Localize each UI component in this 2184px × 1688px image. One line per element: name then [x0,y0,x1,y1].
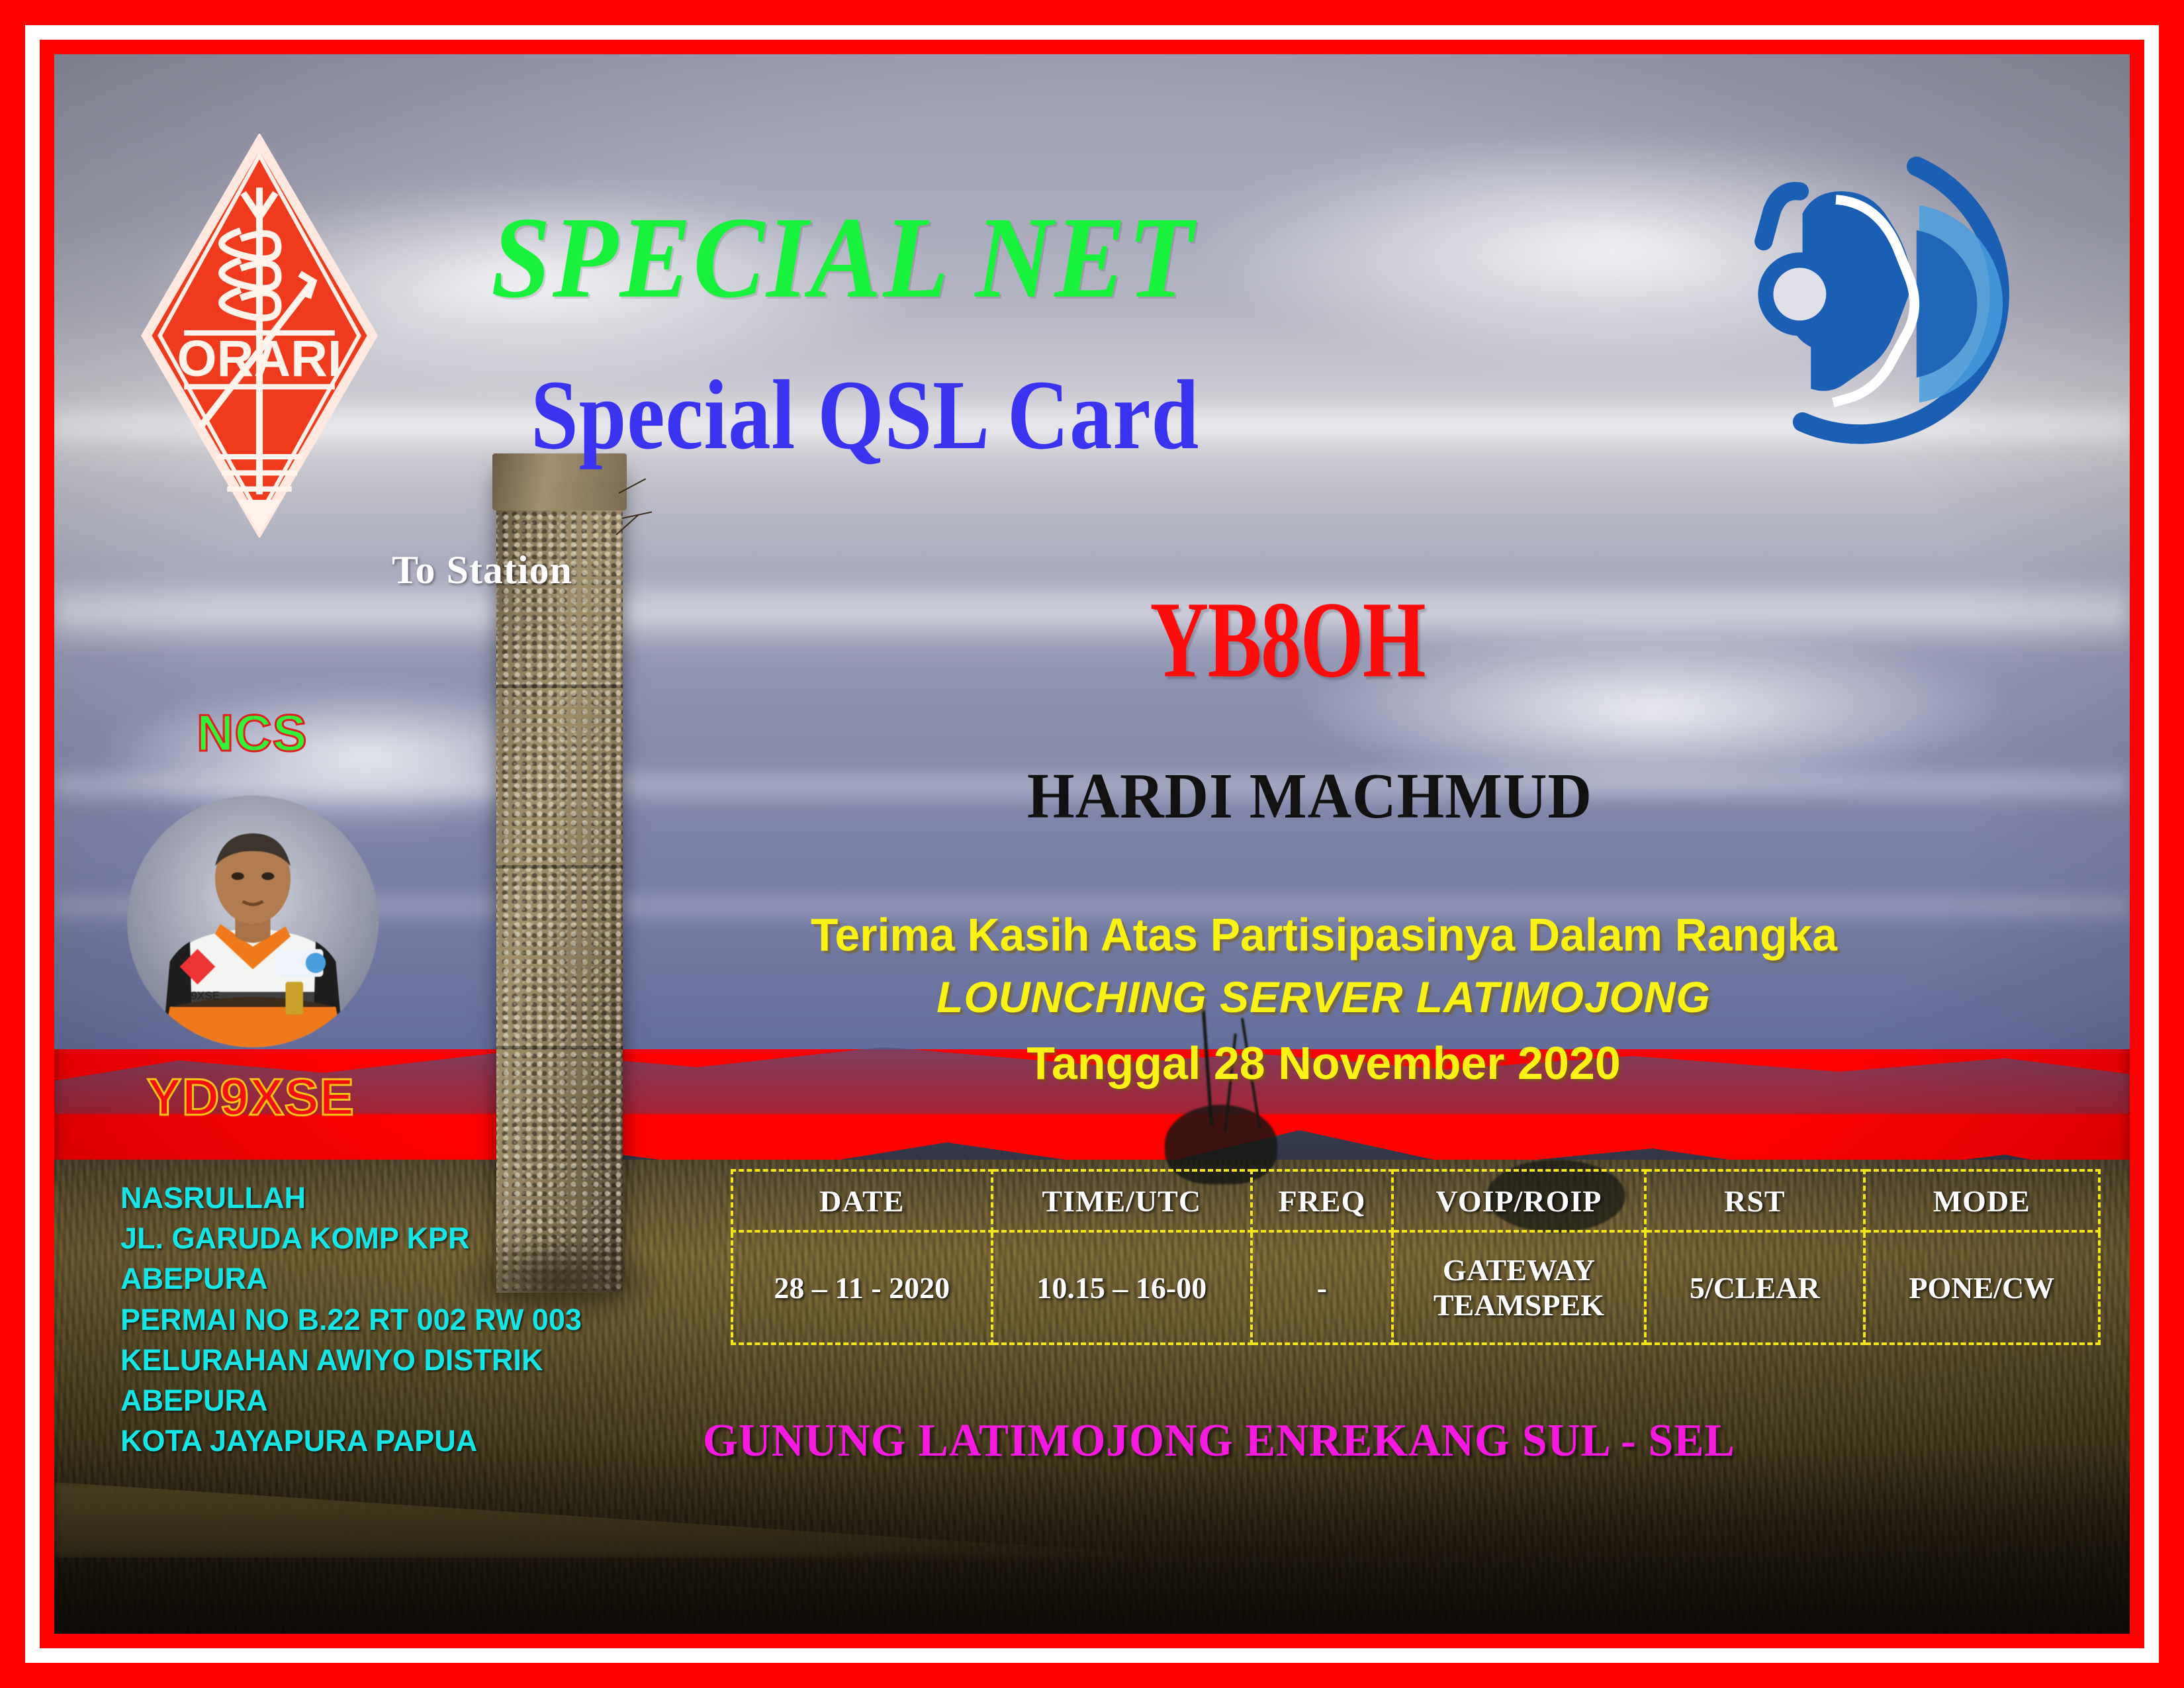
address-line: KELURAHAN AWIYO DISTRIK [120,1340,582,1380]
column-header-date: DATE [732,1170,992,1231]
headset-operator-logo [1752,147,2030,458]
address-line: KOTA JAYAPURA PAPUA [120,1421,582,1461]
footer-web-address: Address : amatir.latimojong.com [1332,1633,1979,1634]
qsl-card-outer-border: ORARI [0,0,2184,1688]
station-callsign: YB8OH [241,577,1943,702]
cell-voip-roip-line1: GATEWAY [1394,1252,1644,1288]
footer-motto: "AMATIR RADIO ADALAH PROGRESIVE" [134,1633,1047,1634]
orari-logo: ORARI [137,134,382,538]
ncs-role-label: NCS [197,703,308,763]
table-row: 28 – 11 - 2020 10.15 – 16-00 - GATEWAY T… [732,1231,2099,1344]
operator-name: HARDI MACHMUD [116,759,2068,833]
address-line: JL. GARUDA KOMP KPR [120,1218,582,1258]
column-header-voip-roip: VOIP/ROIP [1392,1170,1645,1231]
column-header-time-utc: TIME/UTC [992,1170,1252,1231]
qso-log-table: DATE TIME/UTC FREQ VOIP/ROIP RST MODE 28… [731,1169,2101,1345]
location-line: GUNUNG LATIMOJONG ENREKANG SUL - SEL [703,1415,1735,1468]
cell-voip-roip-line2: TEAMSPEK [1394,1288,1644,1323]
qsl-card-photo-area: ORARI [54,54,2130,1634]
cell-time-utc: 10.15 – 16-00 [992,1231,1252,1344]
cell-freq: - [1251,1231,1392,1344]
address-line: ABEPURA [120,1258,582,1299]
page-title-special-net: SPECIAL NET [491,200,1648,316]
thanks-message-block: Terima Kasih Atas Partisipasinya Dalam R… [54,908,2130,1090]
address-line: PERMAI NO B.22 RT 002 RW 003 [120,1299,582,1340]
cell-date: 28 – 11 - 2020 [732,1231,992,1344]
photo-bottom-shadow [54,1444,2130,1634]
thanks-line-2-event: LOUNCHING SERVER LATIMOJONG [518,972,2130,1022]
cell-rst: 5/CLEAR [1645,1231,1864,1344]
thanks-line-1: Terima Kasih Atas Partisipasinya Dalam R… [810,908,1837,961]
address-line: ABEPURA [120,1380,582,1421]
address-line: NASRULLAH [120,1178,582,1218]
qsl-card-inner-border: ORARI [40,40,2144,1648]
thanks-line-3-date: Tanggal 28 November 2020 [518,1037,2130,1090]
station-address-block: NASRULLAH JL. GARUDA KOMP KPR ABEPURA PE… [120,1178,582,1461]
page-subtitle-special-qsl-card: Special QSL Card [531,365,1199,465]
orari-logo-text: ORARI [177,330,342,387]
qsl-card-white-gap: ORARI [25,25,2159,1663]
column-header-rst: RST [1645,1170,1864,1231]
column-header-freq: FREQ [1251,1170,1392,1231]
table-header-row: DATE TIME/UTC FREQ VOIP/ROIP RST MODE [732,1170,2099,1231]
column-header-mode: MODE [1864,1170,2099,1231]
cell-mode: PONE/CW [1864,1231,2099,1344]
cell-voip-roip: GATEWAY TEAMSPEK [1392,1231,1645,1344]
